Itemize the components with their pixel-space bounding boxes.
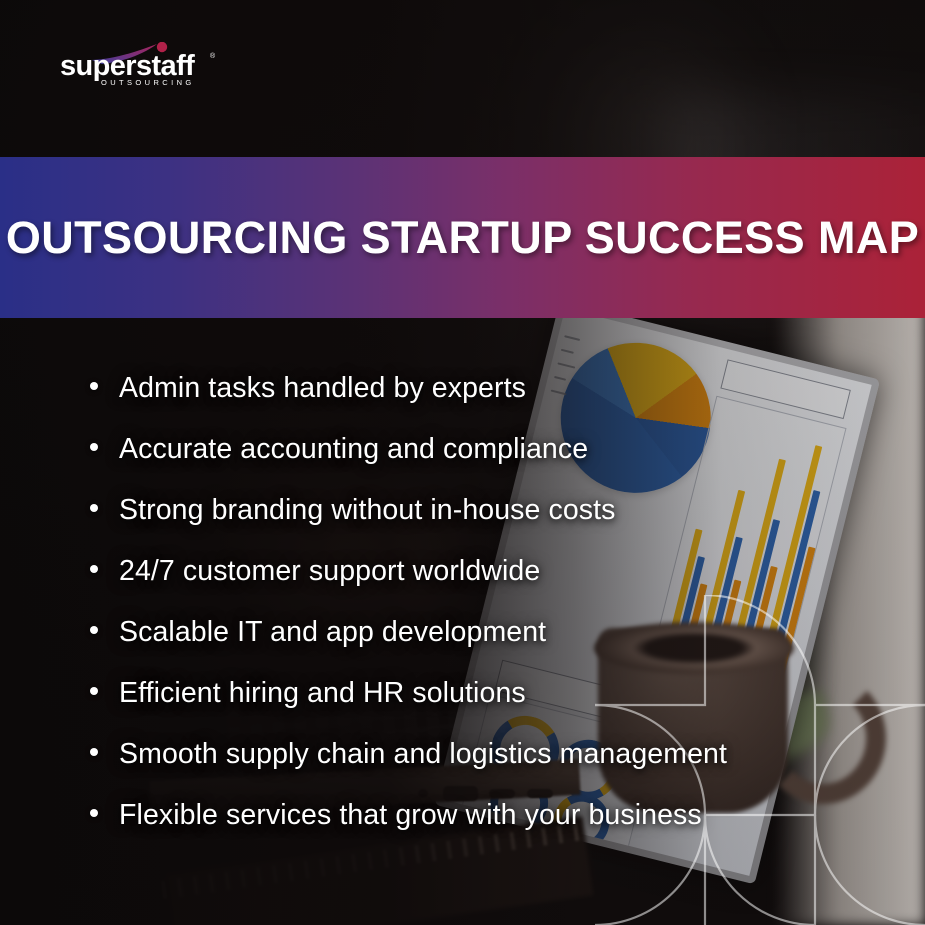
- bullet-dot-icon: [90, 504, 98, 512]
- logo-trademark: ®: [210, 52, 216, 60]
- list-item-label: Strong branding without in-house costs: [119, 494, 616, 527]
- list-item: Accurate accounting and compliance: [90, 433, 890, 494]
- bullet-dot-icon: [90, 809, 98, 817]
- benefit-list: Admin tasks handled by experts Accurate …: [90, 372, 890, 860]
- bullet-dot-icon: [90, 626, 98, 634]
- list-item-label: Accurate accounting and compliance: [119, 433, 588, 466]
- list-item-label: Admin tasks handled by experts: [119, 372, 526, 405]
- list-item: 24/7 customer support worldwide: [90, 555, 890, 616]
- list-item: Efficient hiring and HR solutions: [90, 677, 890, 738]
- bullet-dot-icon: [90, 687, 98, 695]
- list-item-label: 24/7 customer support worldwide: [119, 555, 540, 588]
- list-item: Scalable IT and app development: [90, 616, 890, 677]
- list-item: Admin tasks handled by experts: [90, 372, 890, 433]
- bullet-dot-icon: [90, 382, 98, 390]
- logo-tagline: OUTSOURCING: [101, 78, 195, 87]
- title-banner: OUTSOURCING STARTUP SUCCESS MAP: [0, 157, 925, 318]
- poster-canvas: superstaff ® OUTSOURCING OUTSOURCING STA…: [0, 0, 925, 925]
- list-item-label: Scalable IT and app development: [119, 616, 546, 649]
- list-item: Smooth supply chain and logistics manage…: [90, 738, 890, 799]
- list-item-label: Smooth supply chain and logistics manage…: [119, 738, 727, 771]
- page-title: OUTSOURCING STARTUP SUCCESS MAP: [6, 211, 919, 264]
- superstaff-logo-mark: superstaff ® OUTSOURCING: [58, 42, 233, 88]
- bullet-dot-icon: [90, 748, 98, 756]
- list-item-label: Efficient hiring and HR solutions: [119, 677, 526, 710]
- bullet-dot-icon: [90, 565, 98, 573]
- brand-logo[interactable]: superstaff ® OUTSOURCING: [58, 42, 233, 88]
- list-item: Flexible services that grow with your bu…: [90, 799, 890, 860]
- list-item: Strong branding without in-house costs: [90, 494, 890, 555]
- list-item-label: Flexible services that grow with your bu…: [119, 799, 702, 832]
- bullet-dot-icon: [90, 443, 98, 451]
